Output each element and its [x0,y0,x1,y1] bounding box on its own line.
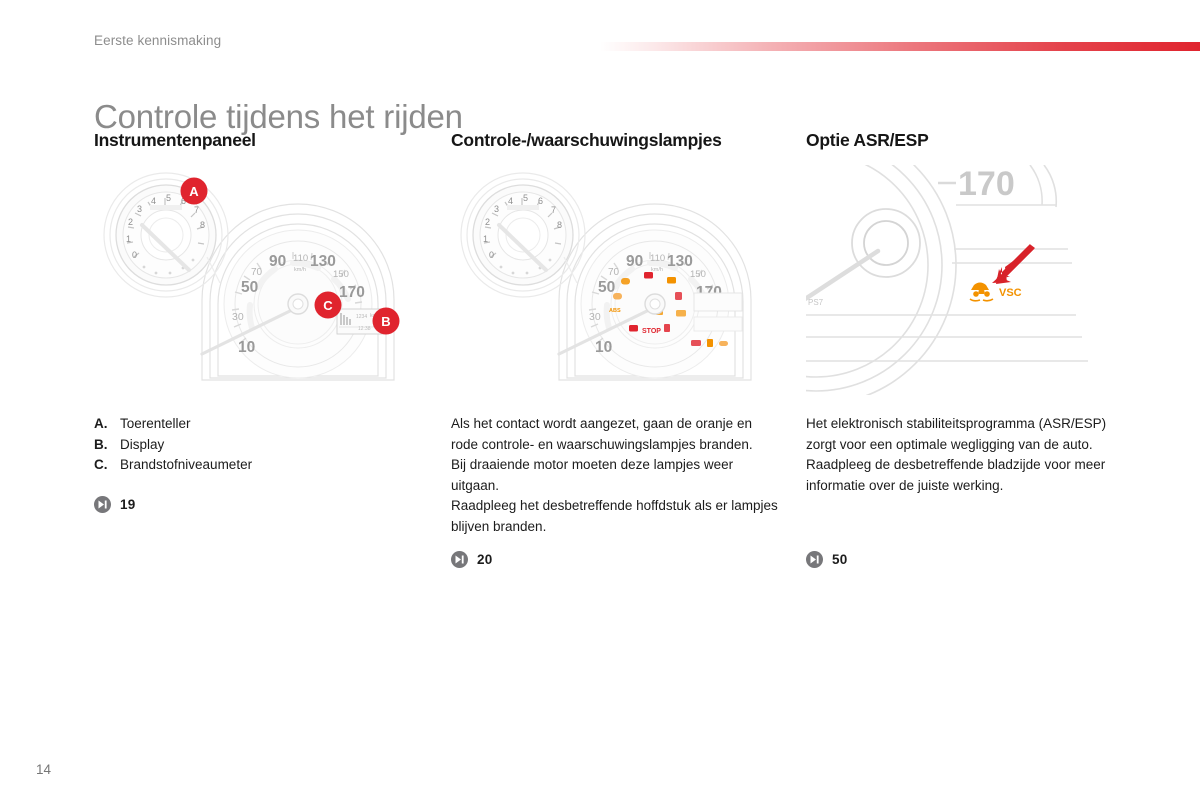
callout-c-letter: C [323,298,333,313]
legend-label: Display [120,435,424,456]
svg-text:STOP: STOP [642,328,661,335]
vsc-warning-lamp: VSC [970,283,1022,301]
legend-key: B. [94,435,120,456]
legend-label: Toerenteller [120,414,424,435]
svg-text:130: 130 [310,253,336,270]
paragraph: Als het contact wordt aangezet, gaan de … [451,414,781,455]
svg-text:10: 10 [595,339,612,356]
list-item: B. Display [94,435,424,456]
page-reference-19[interactable]: 19 [94,496,135,513]
callout-a-letter: A [189,184,199,199]
legend-key: C. [94,455,120,476]
callout-a: A [181,178,208,205]
svg-text:5: 5 [523,193,528,203]
running-header: Eerste kennismaking [94,33,221,48]
svg-text:50: 50 [241,279,258,296]
list-item: A. Toerenteller [94,414,424,435]
header-accent-rule [600,42,1200,51]
svg-text:130: 130 [667,253,693,270]
page-reference-number: 50 [832,552,847,567]
legend-label: Brandstofniveaumeter [120,455,424,476]
svg-text:150: 150 [690,269,706,280]
column-controle-waarschuwingslampjes: Controle-/waarschuwingslampjes [451,130,781,395]
section-heading-instrumentenpaneel: Instrumentenpaneel [94,130,434,151]
small-label-ps7: PS7 [808,298,824,307]
list-item: C. Brandstofniveaumeter [94,455,424,476]
paragraph: Het elektronisch stabiliteitsprogramma (… [806,414,1118,455]
svg-text:110: 110 [293,253,308,264]
svg-text:1234: 1234 [356,314,367,320]
callout-b-letter: B [381,314,390,329]
page-number: 14 [36,762,51,777]
svg-text:8: 8 [200,220,205,230]
svg-text:8: 8 [557,220,562,230]
svg-text:90: 90 [626,253,643,270]
svg-text:10: 10 [238,339,255,356]
page-reference-number: 19 [120,497,135,512]
svg-text:50: 50 [598,279,615,296]
vsc-lamp-label: VSC [999,287,1022,299]
paragraph: Raadpleeg het desbetreffende hoffdstuk a… [451,496,781,537]
svg-text:0: 0 [132,250,137,260]
svg-text:0: 0 [489,250,494,260]
svg-text:3: 3 [494,204,499,214]
page-jump-icon [94,496,111,513]
svg-text:km/h: km/h [651,267,663,273]
page-jump-icon [806,551,823,568]
svg-text:7: 7 [194,205,199,215]
page-reference-50[interactable]: 50 [806,551,847,568]
section-heading-optie-asr-esp: Optie ASR/ESP [806,130,1118,151]
column-optie-asr-esp: Optie ASR/ESP 170 [806,130,1118,395]
svg-text:km/h: km/h [294,267,306,273]
svg-text:70: 70 [251,267,263,278]
column-instrumentenpaneel: Instrumentenpaneel [94,130,434,395]
svg-text:3: 3 [137,204,142,214]
section-heading-controle-waarschuwingslampjes: Controle-/waarschuwingslampjes [451,130,781,151]
page-reference-20[interactable]: 20 [451,551,492,568]
page-reference-number: 20 [477,552,492,567]
svg-text:150: 150 [333,269,349,280]
instrument-cluster-warning-lamps-diagram: 10 30 50 70 90 110 km/h 130 150 170 ABS [451,165,781,395]
svg-text:7: 7 [551,205,556,215]
svg-text:ABS: ABS [609,308,621,314]
body-text-optie-asr-esp: Het elektronisch stabiliteitsprogramma (… [806,414,1118,496]
svg-text:1: 1 [126,234,131,244]
svg-text:70: 70 [608,267,620,278]
svg-text:4: 4 [151,196,156,206]
speedometer-170-label: 170 [958,165,1015,203]
svg-text:90: 90 [269,253,286,270]
svg-text:170: 170 [339,284,365,301]
svg-text:4: 4 [508,196,513,206]
callout-b: B [373,308,400,335]
svg-text:5: 5 [166,193,171,203]
page-jump-icon [451,551,468,568]
svg-text:2: 2 [485,217,490,227]
legend-list: A. Toerenteller B. Display C. Brandstofn… [94,414,424,476]
svg-text:110: 110 [650,253,665,264]
vsc-warning-lamp-closeup-diagram: 170 PS7 [806,165,1118,395]
instrument-cluster-diagram: 10 30 50 70 90 110 km/h 130 150 170 1 [94,165,434,395]
body-text-controle-waarschuwingslampjes: Als het contact wordt aangezet, gaan de … [451,414,781,537]
svg-text:30: 30 [232,311,244,323]
svg-text:6: 6 [538,196,543,206]
svg-text:2: 2 [128,217,133,227]
pointer-arrow [992,235,1050,284]
paragraph: Bij draaiende motor moeten deze lampjes … [451,455,781,496]
svg-text:1: 1 [483,234,488,244]
legend-key: A. [94,414,120,435]
paragraph: Raadpleeg de desbetreffende bladzijde vo… [806,455,1118,496]
callout-c: C [315,292,342,319]
svg-text:30: 30 [589,311,601,323]
